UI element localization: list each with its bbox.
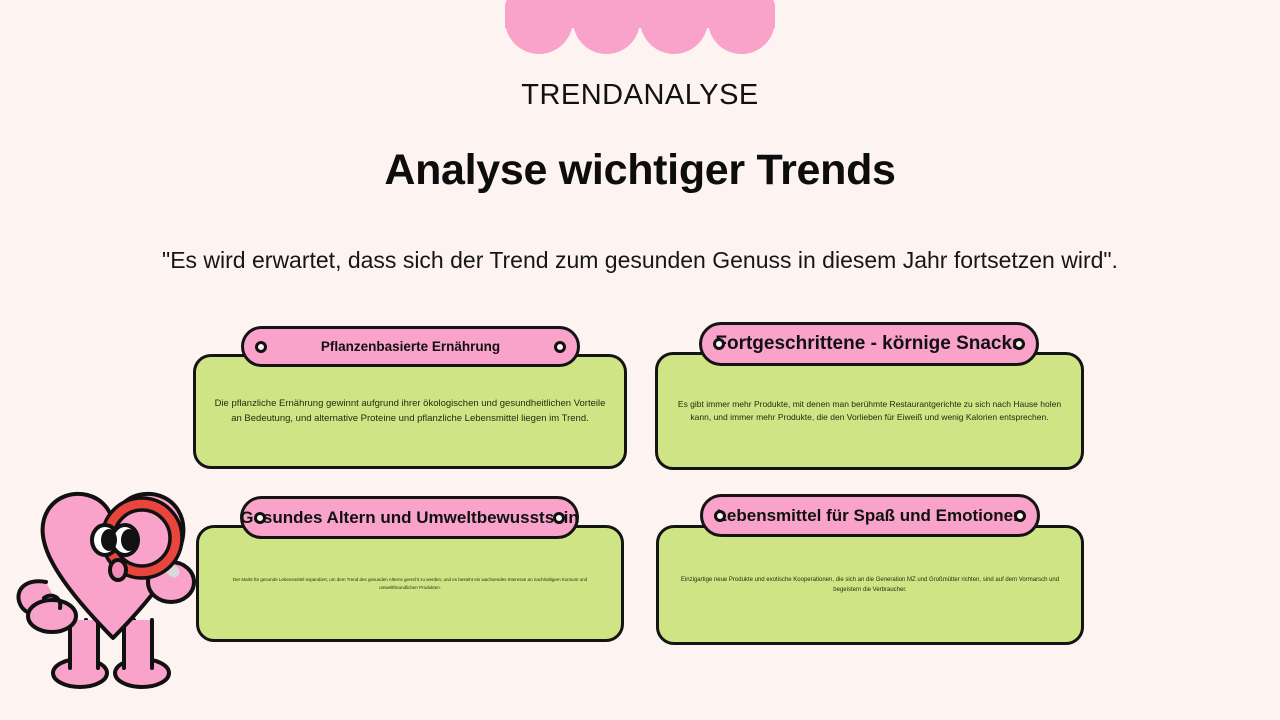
card-title-3: Gesundes Altern und Umweltbewusstsein [240,508,579,528]
scallop-2 [573,10,641,54]
card-title-4: Lebensmittel für Spaß und Emotionen [717,506,1024,526]
eyebrow-label: TRENDANALYSE [0,79,1280,112]
card-title-1: Pflanzenbasierte Ernährung [321,339,500,354]
page-subtitle: "Es wird erwartet, dass sich der Trend z… [0,247,1280,274]
card-description-4: Einzigartige neue Produkte und exotische… [673,575,1067,595]
card-header-pill-2[interactable]: Fortgeschrittene - körnige Snacks [699,322,1039,366]
card-body-1: Die pflanzliche Ernährung gewinnt aufgru… [193,354,627,469]
pill-hole-left-icon [714,510,726,522]
card-description-3: Der Markt für gesunde Lebensmittel expan… [213,576,607,590]
card-description-2: Es gibt immer mehr Produkte, mit denen m… [672,398,1067,424]
card-title-2: Fortgeschrittene - körnige Snacks [715,333,1022,355]
heart-character-with-magnifying-glass-icon [8,470,238,710]
card-header-pill-3[interactable]: Gesundes Altern und Umweltbewusstsein [240,496,579,539]
card-body-2: Es gibt immer mehr Produkte, mit denen m… [655,352,1084,470]
card-body-4: Einzigartige neue Produkte und exotische… [656,525,1084,645]
pill-hole-right-icon [554,341,566,353]
pill-hole-right-icon [1013,338,1025,350]
pill-hole-left-icon [255,341,267,353]
page-title: Analyse wichtiger Trends [0,146,1280,195]
card-description-1: Die pflanzliche Ernährung gewinnt aufgru… [210,397,610,426]
scallop-1 [505,10,573,54]
scallop-3 [640,10,708,54]
pill-hole-left-icon [713,338,725,350]
card-body-3: Der Markt für gesunde Lebensmittel expan… [196,525,624,642]
pill-hole-right-icon [1014,510,1026,522]
pill-hole-left-icon [254,512,266,524]
scallop-4 [708,10,776,54]
scalloped-banner [505,0,775,58]
card-header-pill-4[interactable]: Lebensmittel für Spaß und Emotionen [700,494,1040,537]
pill-hole-right-icon [553,512,565,524]
card-header-pill-1[interactable]: Pflanzenbasierte Ernährung [241,326,580,367]
